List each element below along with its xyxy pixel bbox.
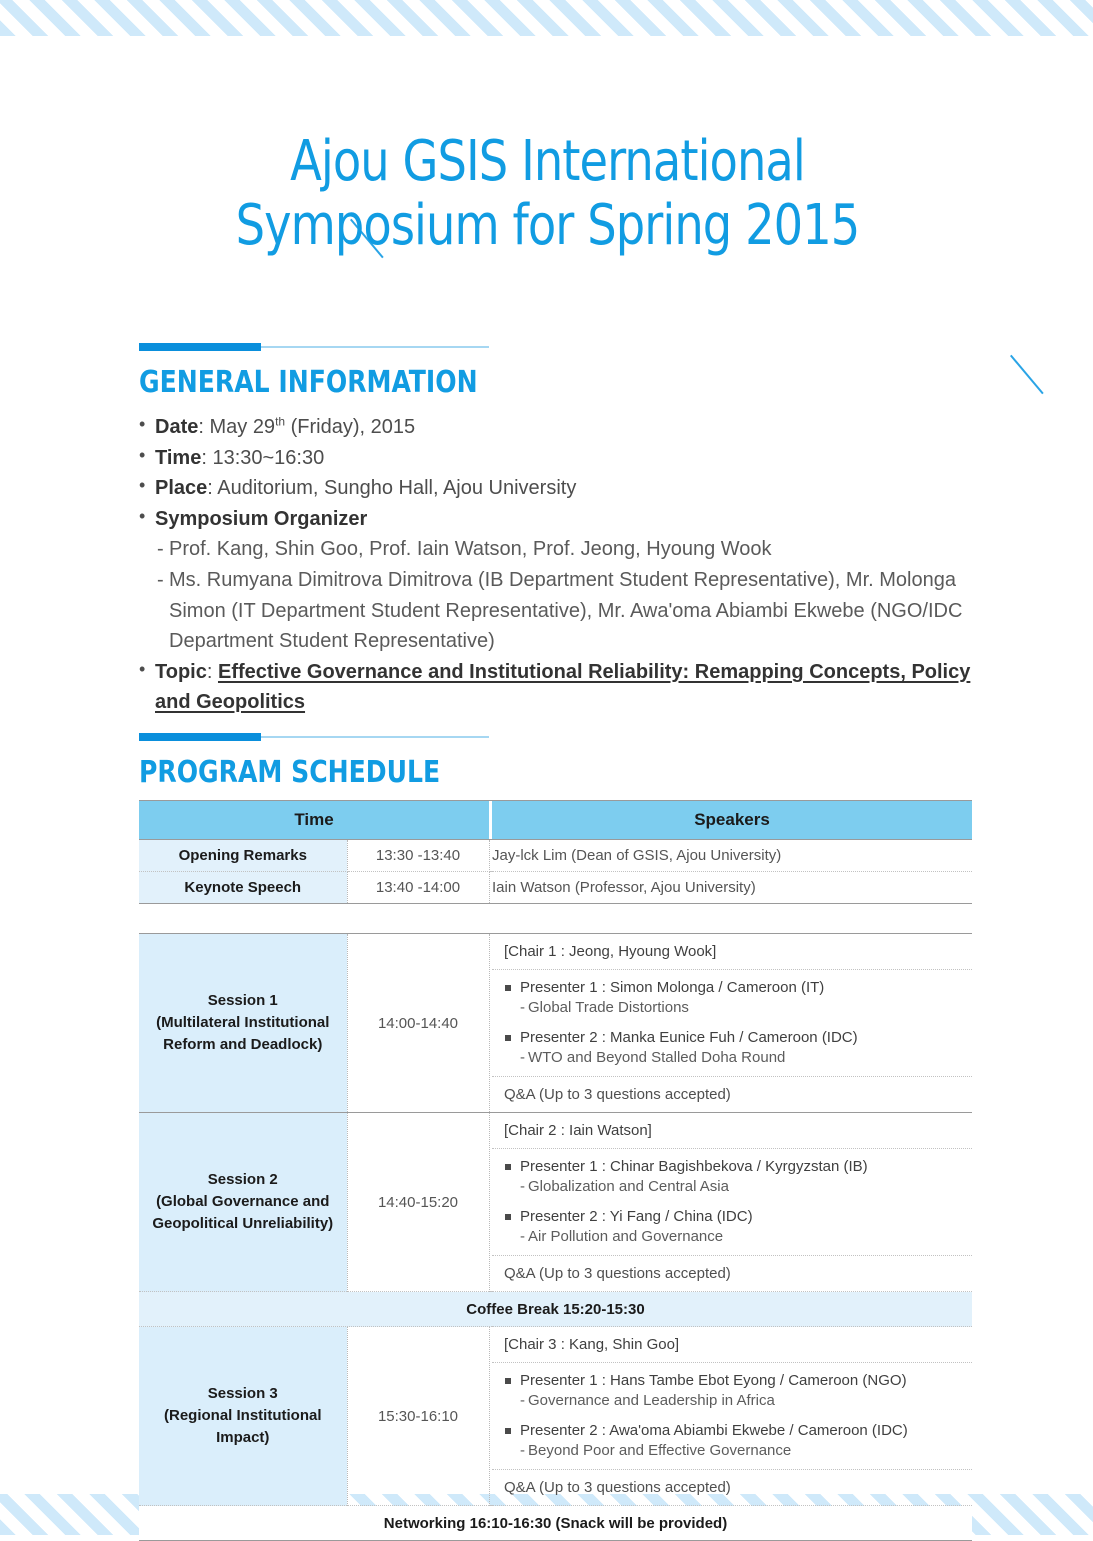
keynote-speech-label: Keynote Speech: [139, 872, 347, 904]
coffee-break-label: Coffee Break 15:20-15:30: [139, 1292, 972, 1327]
program-schedule-heading: PROGRAM SCHEDULE: [139, 755, 465, 790]
title-block: Ajou GSIS International Symposium for Sp…: [0, 108, 1093, 298]
topic-label: Topic: [155, 661, 207, 683]
session-3-name-line-1: Session 3: [139, 1383, 347, 1405]
session-1-qa: Q&A (Up to 3 questions accepted): [492, 1076, 972, 1112]
general-information-section: GENERAL INFORMATION Date: May 29th (Frid…: [139, 343, 999, 718]
session-1-name: Session 1 (Multilateral Institutional Re…: [139, 934, 347, 1113]
session-2-name-line-3: Geopolitical Unreliability): [139, 1213, 347, 1235]
session-1-time: 14:00-14:40: [347, 934, 489, 1113]
info-item-date: Date: May 29th (Friday), 2015: [139, 412, 999, 443]
session-3-time: 15:30-16:10: [347, 1327, 489, 1506]
opening-remarks-time: 13:30 -13:40: [347, 840, 489, 872]
session-3-presenter-1-name: Presenter 1 : Hans Tambe Ebot Eyong / Ca…: [504, 1371, 962, 1391]
program-schedule-section: PROGRAM SCHEDULE: [139, 733, 489, 802]
date-ordinal-suffix: th: [275, 414, 285, 428]
presenter-block: Presenter 2 : Manka Eunice Fuh / Cameroo…: [504, 1028, 962, 1069]
session-2-qa: Q&A (Up to 3 questions accepted): [492, 1255, 972, 1291]
info-item-place: Place: Auditorium, Sungho Hall, Ajou Uni…: [139, 473, 999, 504]
session-2-chair: [Chair 2 : Iain Watson]: [492, 1113, 972, 1149]
date-value-pre: : May 29: [198, 416, 275, 438]
table-row-coffee-break: Coffee Break 15:20-15:30: [139, 1292, 972, 1327]
organizer-label: Symposium Organizer: [155, 508, 367, 530]
presenter-block: Presenter 2 : Awa'oma Abiambi Ekwebe / C…: [504, 1421, 962, 1462]
keynote-speech-time: 13:40 -14:00: [347, 872, 489, 904]
session-1-presenter-1-topic: Global Trade Distortions: [504, 998, 962, 1018]
topic-colon: :: [207, 661, 218, 683]
session-1-presenter-2-topic: WTO and Beyond Stalled Doha Round: [504, 1048, 962, 1068]
session-2-presenter-1-topic: Globalization and Central Asia: [504, 1177, 962, 1197]
session-3-presenter-2-topic: Beyond Poor and Effective Governance: [504, 1441, 962, 1461]
time-value: : 13:30~16:30: [201, 447, 324, 469]
session-3-presenters: Presenter 1 : Hans Tambe Ebot Eyong / Ca…: [492, 1363, 972, 1469]
opening-remarks-label: Opening Remarks: [139, 840, 347, 872]
session-3-name: Session 3 (Regional Institutional Impact…: [139, 1327, 347, 1506]
session-1-details: [Chair 1 : Jeong, Hyoung Wook] Presenter…: [492, 934, 972, 1113]
session-2-name-line-2: (Global Governance and: [139, 1191, 347, 1213]
keynote-speech-speaker: Iain Watson (Professor, Ajou University): [492, 872, 972, 904]
presenter-block: Presenter 1 : Hans Tambe Ebot Eyong / Ca…: [504, 1371, 962, 1412]
networking-label: Networking 16:10-16:30 (Snack will be pr…: [139, 1506, 972, 1541]
session-1-presenter-2-name: Presenter 2 : Manka Eunice Fuh / Cameroo…: [504, 1028, 962, 1048]
program-schedule-table-wrapper: Time Speakers Opening Remarks 13:30 -13:…: [139, 800, 972, 1541]
organizer-line-2: Ms. Rumyana Dimitrova Dimitrova (IB Depa…: [139, 565, 999, 657]
time-label: Time: [155, 447, 201, 469]
table-header-row: Time Speakers: [139, 801, 972, 840]
session-2-details: [Chair 2 : Iain Watson] Presenter 1 : Ch…: [492, 1113, 972, 1292]
session-1-presenters: Presenter 1 : Simon Molonga / Cameroon (…: [492, 970, 972, 1076]
program-schedule-table: Time Speakers Opening Remarks 13:30 -13:…: [139, 800, 972, 1541]
general-information-list: Date: May 29th (Friday), 2015 Time: 13:3…: [139, 412, 999, 718]
table-row-keynote-speech: Keynote Speech 13:40 -14:00 Iain Watson …: [139, 872, 972, 904]
table-row-session-3: Session 3 (Regional Institutional Impact…: [139, 1327, 972, 1506]
presenter-block: Presenter 2 : Yi Fang / China (IDC) Air …: [504, 1207, 962, 1248]
program-schedule-accent-rule: [139, 733, 489, 742]
session-2-time: 14:40-15:20: [347, 1113, 489, 1292]
session-3-qa: Q&A (Up to 3 questions accepted): [492, 1469, 972, 1505]
table-row-session-1: Session 1 (Multilateral Institutional Re…: [139, 934, 972, 1113]
general-information-accent-rule: [139, 343, 489, 352]
session-3-chair: [Chair 3 : Kang, Shin Goo]: [492, 1327, 972, 1363]
general-information-heading: GENERAL INFORMATION: [139, 365, 939, 400]
date-label: Date: [155, 416, 198, 438]
session-2-name-line-1: Session 2: [139, 1169, 347, 1191]
session-1-name-line-3: Reform and Deadlock): [139, 1034, 347, 1056]
place-value: : Auditorium, Sungho Hall, Ajou Universi…: [207, 477, 576, 499]
table-row-networking: Networking 16:10-16:30 (Snack will be pr…: [139, 1506, 972, 1541]
session-2-presenter-2-topic: Air Pollution and Governance: [504, 1227, 962, 1247]
date-value-post: (Friday), 2015: [285, 416, 415, 438]
page-title-line-2: Symposium for Spring 2015: [81, 194, 1015, 258]
session-1-presenter-1-name: Presenter 1 : Simon Molonga / Cameroon (…: [504, 978, 962, 998]
column-header-time: Time: [139, 801, 489, 840]
column-header-speakers: Speakers: [492, 801, 972, 840]
session-3-presenter-1-topic: Governance and Leadership in Africa: [504, 1391, 962, 1411]
session-2-name: Session 2 (Global Governance and Geopoli…: [139, 1113, 347, 1292]
session-3-name-line-3: Impact): [139, 1427, 347, 1449]
page-title-line-1: Ajou GSIS International: [81, 130, 1015, 194]
presenter-block: Presenter 1 : Simon Molonga / Cameroon (…: [504, 978, 962, 1019]
presenter-block: Presenter 1 : Chinar Bagishbekova / Kyrg…: [504, 1157, 962, 1198]
page-title: Ajou GSIS International Symposium for Sp…: [81, 130, 1015, 258]
table-row-session-2: Session 2 (Global Governance and Geopoli…: [139, 1113, 972, 1292]
top-stripe-decoration: [0, 0, 1093, 36]
place-label: Place: [155, 477, 207, 499]
session-1-chair: [Chair 1 : Jeong, Hyoung Wook]: [492, 934, 972, 970]
title-slash-bottom-right-icon: [1010, 355, 1044, 395]
session-1-name-line-2: (Multilateral Institutional: [139, 1012, 347, 1034]
table-row-opening-remarks: Opening Remarks 13:30 -13:40 Jay-lck Lim…: [139, 840, 972, 872]
topic-value: Effective Governance and Institutional R…: [155, 661, 970, 714]
session-1-name-line-1: Session 1: [139, 990, 347, 1012]
session-2-presenters: Presenter 1 : Chinar Bagishbekova / Kyrg…: [492, 1149, 972, 1255]
session-3-details: [Chair 3 : Kang, Shin Goo] Presenter 1 :…: [492, 1327, 972, 1506]
table-gap-cell: [139, 904, 972, 934]
info-item-topic: Topic: Effective Governance and Institut…: [139, 657, 999, 718]
table-gap-row: [139, 904, 972, 934]
organizer-line-1: Prof. Kang, Shin Goo, Prof. Iain Watson,…: [139, 534, 999, 565]
session-3-name-line-2: (Regional Institutional: [139, 1405, 347, 1427]
session-3-presenter-2-name: Presenter 2 : Awa'oma Abiambi Ekwebe / C…: [504, 1421, 962, 1441]
info-item-time: Time: 13:30~16:30: [139, 443, 999, 474]
session-2-presenter-1-name: Presenter 1 : Chinar Bagishbekova / Kyrg…: [504, 1157, 962, 1177]
info-item-organizer: Symposium Organizer: [139, 504, 999, 535]
session-2-presenter-2-name: Presenter 2 : Yi Fang / China (IDC): [504, 1207, 962, 1227]
opening-remarks-speaker: Jay-lck Lim (Dean of GSIS, Ajou Universi…: [492, 840, 972, 872]
